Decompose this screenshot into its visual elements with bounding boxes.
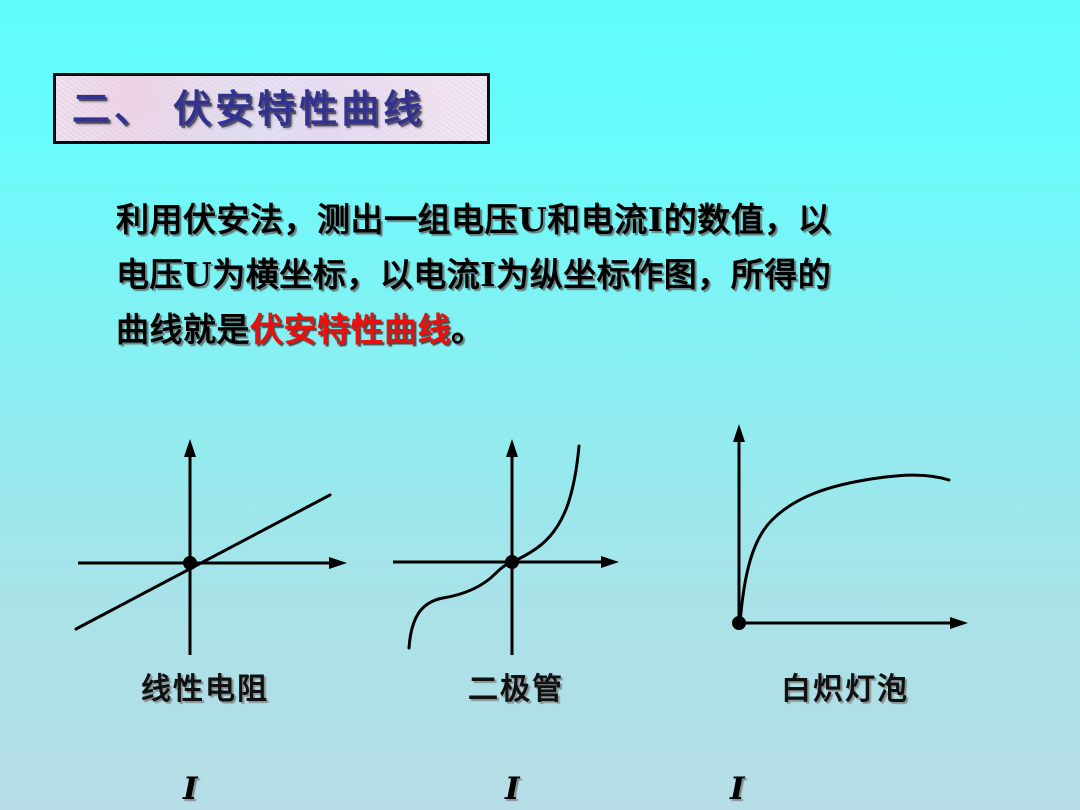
x-axis-arrow-icon [950, 617, 968, 629]
body-paragraph: 利用伏安法，测出一组电压U和电流I的数值，以 电压U为横坐标，以电流I为纵坐标作… [116, 192, 1014, 357]
y-axis-arrow-icon [733, 424, 745, 442]
x-axis-arrow-icon [329, 557, 347, 569]
caption-incandescent-bulb: 白炽灯泡 [781, 675, 909, 705]
y-axis-arrow-icon [184, 439, 196, 457]
origin-point [505, 555, 519, 569]
body-line-3-prefix: 曲线就是 [116, 310, 250, 349]
chart1-y-axis-label: I [183, 774, 198, 805]
caption-diode: 二极管 [468, 675, 564, 705]
origin-point [183, 556, 197, 570]
origin-point [732, 616, 746, 630]
x-axis-arrow-icon [601, 556, 619, 568]
chart-incandescent-bulb [700, 380, 1050, 680]
slide-canvas: 二、 伏安特性曲线 利用伏安法，测出一组电压U和电流I的数值，以 电压U为横坐标… [0, 0, 1080, 810]
data-series-bulb [740, 475, 949, 623]
page-title: 二、 伏安特性曲线 [56, 90, 425, 128]
chart3-y-axis-label: I [730, 774, 745, 805]
highlighted-term: 伏安特性曲线 [250, 310, 451, 349]
chart-linear-resistor [60, 380, 390, 680]
body-line-1: 利用伏安法，测出一组电压U和电流I的数值，以 [116, 192, 1014, 247]
chart2-y-axis-label: I [505, 774, 520, 805]
y-axis-arrow-icon [506, 439, 518, 457]
body-line-3-suffix: 。 [451, 310, 485, 349]
data-series-diode [409, 446, 579, 648]
body-line-3: 曲线就是伏安特性曲线。 [116, 302, 1014, 357]
body-line-2: 电压U为横坐标，以电流I为纵坐标作图，所得的 [116, 247, 1014, 302]
section-title-box: 二、 伏安特性曲线 [53, 73, 490, 144]
caption-linear-resistor: 线性电阻 [141, 675, 269, 705]
chart-diode [385, 380, 715, 680]
